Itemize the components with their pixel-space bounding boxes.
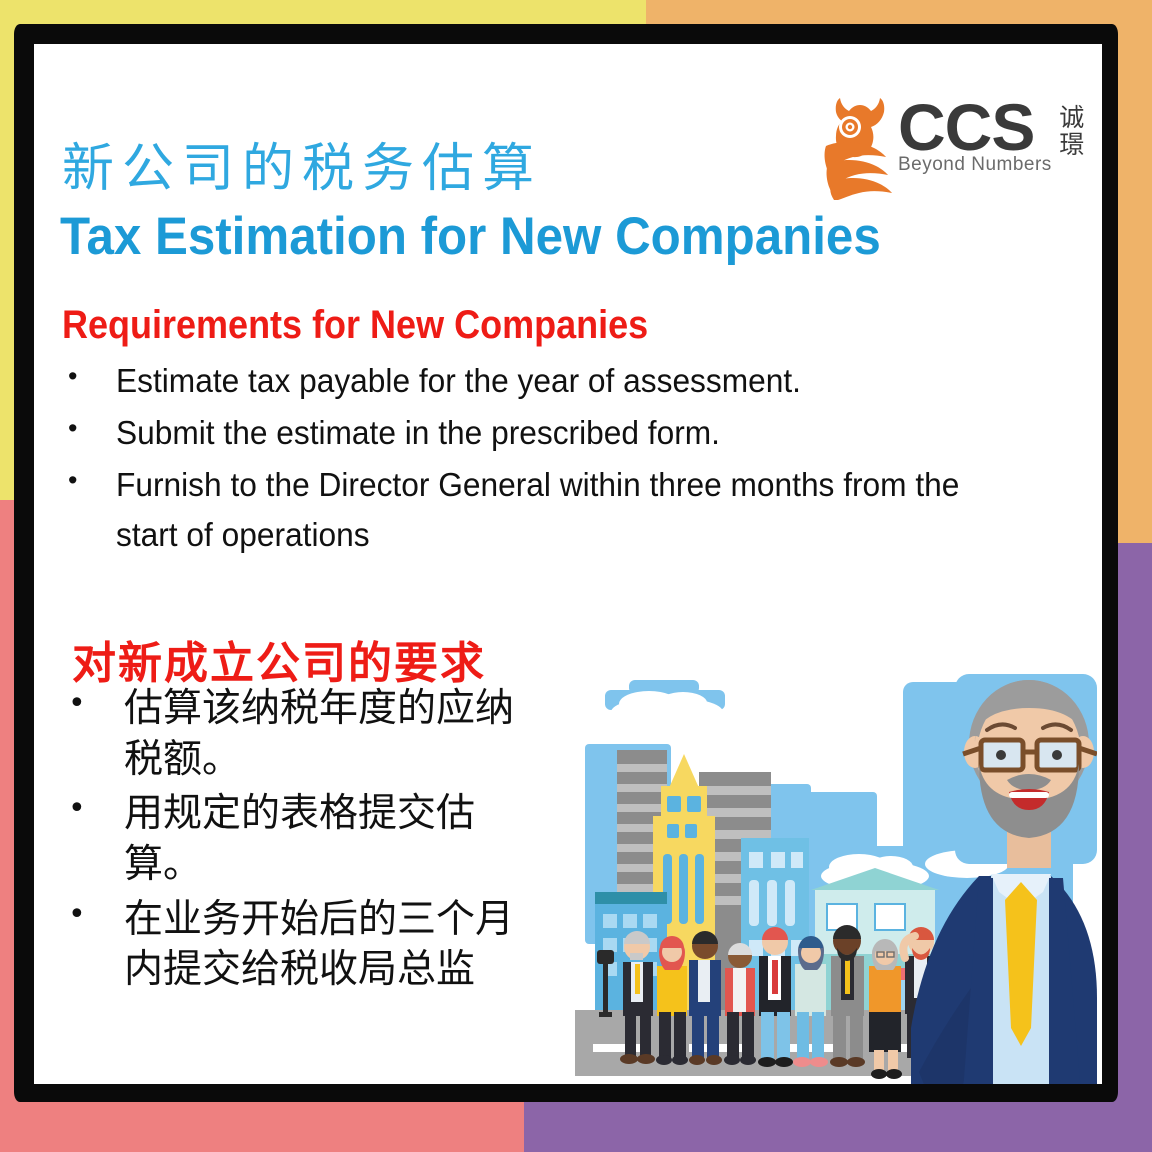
bullet-icon: •	[58, 684, 124, 725]
list-item-text: 在业务开始后的三个月内提交给税收局总监	[124, 895, 528, 996]
chinese-section-heading: 对新成立公司的要求	[72, 627, 486, 691]
list-item: • Submit the estimate in the prescribed …	[62, 408, 1052, 458]
english-section-heading: Requirements for New Companies	[62, 303, 648, 348]
logo-tagline: Beyond Numbers	[898, 154, 1052, 176]
list-item-text: 估算该纳税年度的应纳税额。	[124, 684, 528, 785]
ccs-logo: CCS Beyond Numbers 诚璟	[820, 96, 1102, 208]
logo-ccs-text: CCS	[898, 96, 1052, 158]
bullet-icon: •	[58, 789, 124, 830]
crowd-group	[620, 925, 937, 1079]
list-item: • Furnish to the Director General within…	[62, 460, 1052, 560]
chinese-bullet-list: • 估算该纳税年度的应纳税额。 • 用规定的表格提交估算。 • 在业务开始后的三…	[58, 684, 528, 1000]
illustration-businessman-crowd	[575, 668, 1097, 1084]
list-item-text: 用规定的表格提交估算。	[124, 789, 528, 890]
list-item-text: Submit the estimate in the prescribed fo…	[116, 408, 1015, 458]
list-item: • 在业务开始后的三个月内提交给税收局总监	[58, 895, 528, 996]
page-title-chinese: 新公司的税务估算	[62, 126, 542, 201]
bullet-icon: •	[62, 356, 116, 398]
logo-wordmark-group: CCS Beyond Numbers 诚璟	[898, 96, 1084, 176]
list-item: • Estimate tax payable for the year of a…	[62, 356, 1052, 406]
list-item-text: Estimate tax payable for the year of ass…	[116, 356, 1015, 406]
bullet-icon: •	[62, 460, 116, 502]
bullet-icon: •	[58, 895, 124, 936]
list-item: • 估算该纳税年度的应纳税额。	[58, 684, 528, 785]
owl-icon	[820, 96, 894, 200]
illustration-svg	[575, 668, 1097, 1084]
page-title-english: Tax Estimation for New Companies	[60, 206, 881, 267]
list-item: • 用规定的表格提交估算。	[58, 789, 528, 890]
bullet-icon: •	[62, 408, 116, 450]
logo-chinese-name: 诚璟	[1057, 104, 1084, 158]
list-item-text: Furnish to the Director General within t…	[116, 460, 1015, 560]
poster-root: CCS Beyond Numbers 诚璟 新公司的税务估算 Tax Estim…	[0, 0, 1152, 1152]
content-card: CCS Beyond Numbers 诚璟 新公司的税务估算 Tax Estim…	[34, 44, 1102, 1084]
english-bullet-list: • Estimate tax payable for the year of a…	[62, 356, 1052, 563]
